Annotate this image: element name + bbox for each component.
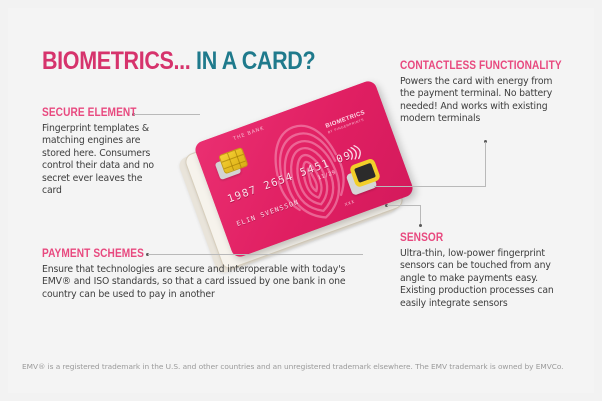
callout-sensor: SENSOR Ultra-thin, low-power fingerprint… [400, 232, 565, 310]
callout-sensor-body: Ultra-thin, low-power fingerprint sensor… [400, 248, 565, 310]
callout-contactless: CONTACTLESS FUNCTIONALITY Powers the car… [400, 60, 565, 126]
footer-disclaimer: EMV® is a registered trademark in the U.… [22, 362, 582, 371]
callout-secure-element-body: Fingerprint templates & matching engines… [42, 123, 162, 197]
page-title: BIOMETRICS... IN A CARD? [42, 47, 315, 76]
leader-line-contactless-v [485, 142, 486, 186]
page-title-part2: IN A CARD? [190, 47, 315, 75]
callout-contactless-heading: CONTACTLESS FUNCTIONALITY [400, 60, 545, 72]
leader-line-contactless-h [374, 186, 486, 187]
biometric-payment-card: THE BANK 1987 2654 5451 09 11/29 ELIN SV… [193, 79, 415, 259]
sensor-surface [354, 163, 376, 183]
callout-secure-element-heading: SECURE ELEMENT [42, 107, 148, 119]
leader-line-sensor-h [387, 205, 421, 206]
emv-chip-icon [218, 147, 248, 174]
callout-secure-element: SECURE ELEMENT Fingerprint templates & m… [42, 107, 162, 197]
card-illustration: THE BANK 1987 2654 5451 09 11/29 ELIN SV… [186, 86, 418, 266]
leader-dot-sensor-end [419, 224, 422, 227]
page-title-part1: BIOMETRICS... [42, 47, 190, 75]
callout-payment-schemes: PAYMENT SCHEMES Ensure that technologies… [42, 248, 372, 301]
callout-payment-schemes-body: Ensure that technologies are secure and … [42, 264, 372, 301]
infographic-canvas: BIOMETRICS... IN A CARD? [0, 0, 602, 401]
leader-line-sensor-v [420, 205, 421, 225]
callout-payment-schemes-heading: PAYMENT SCHEMES [42, 248, 332, 260]
callout-contactless-body: Powers the card with energy from the pay… [400, 76, 565, 126]
callout-sensor-heading: SENSOR [400, 232, 545, 244]
